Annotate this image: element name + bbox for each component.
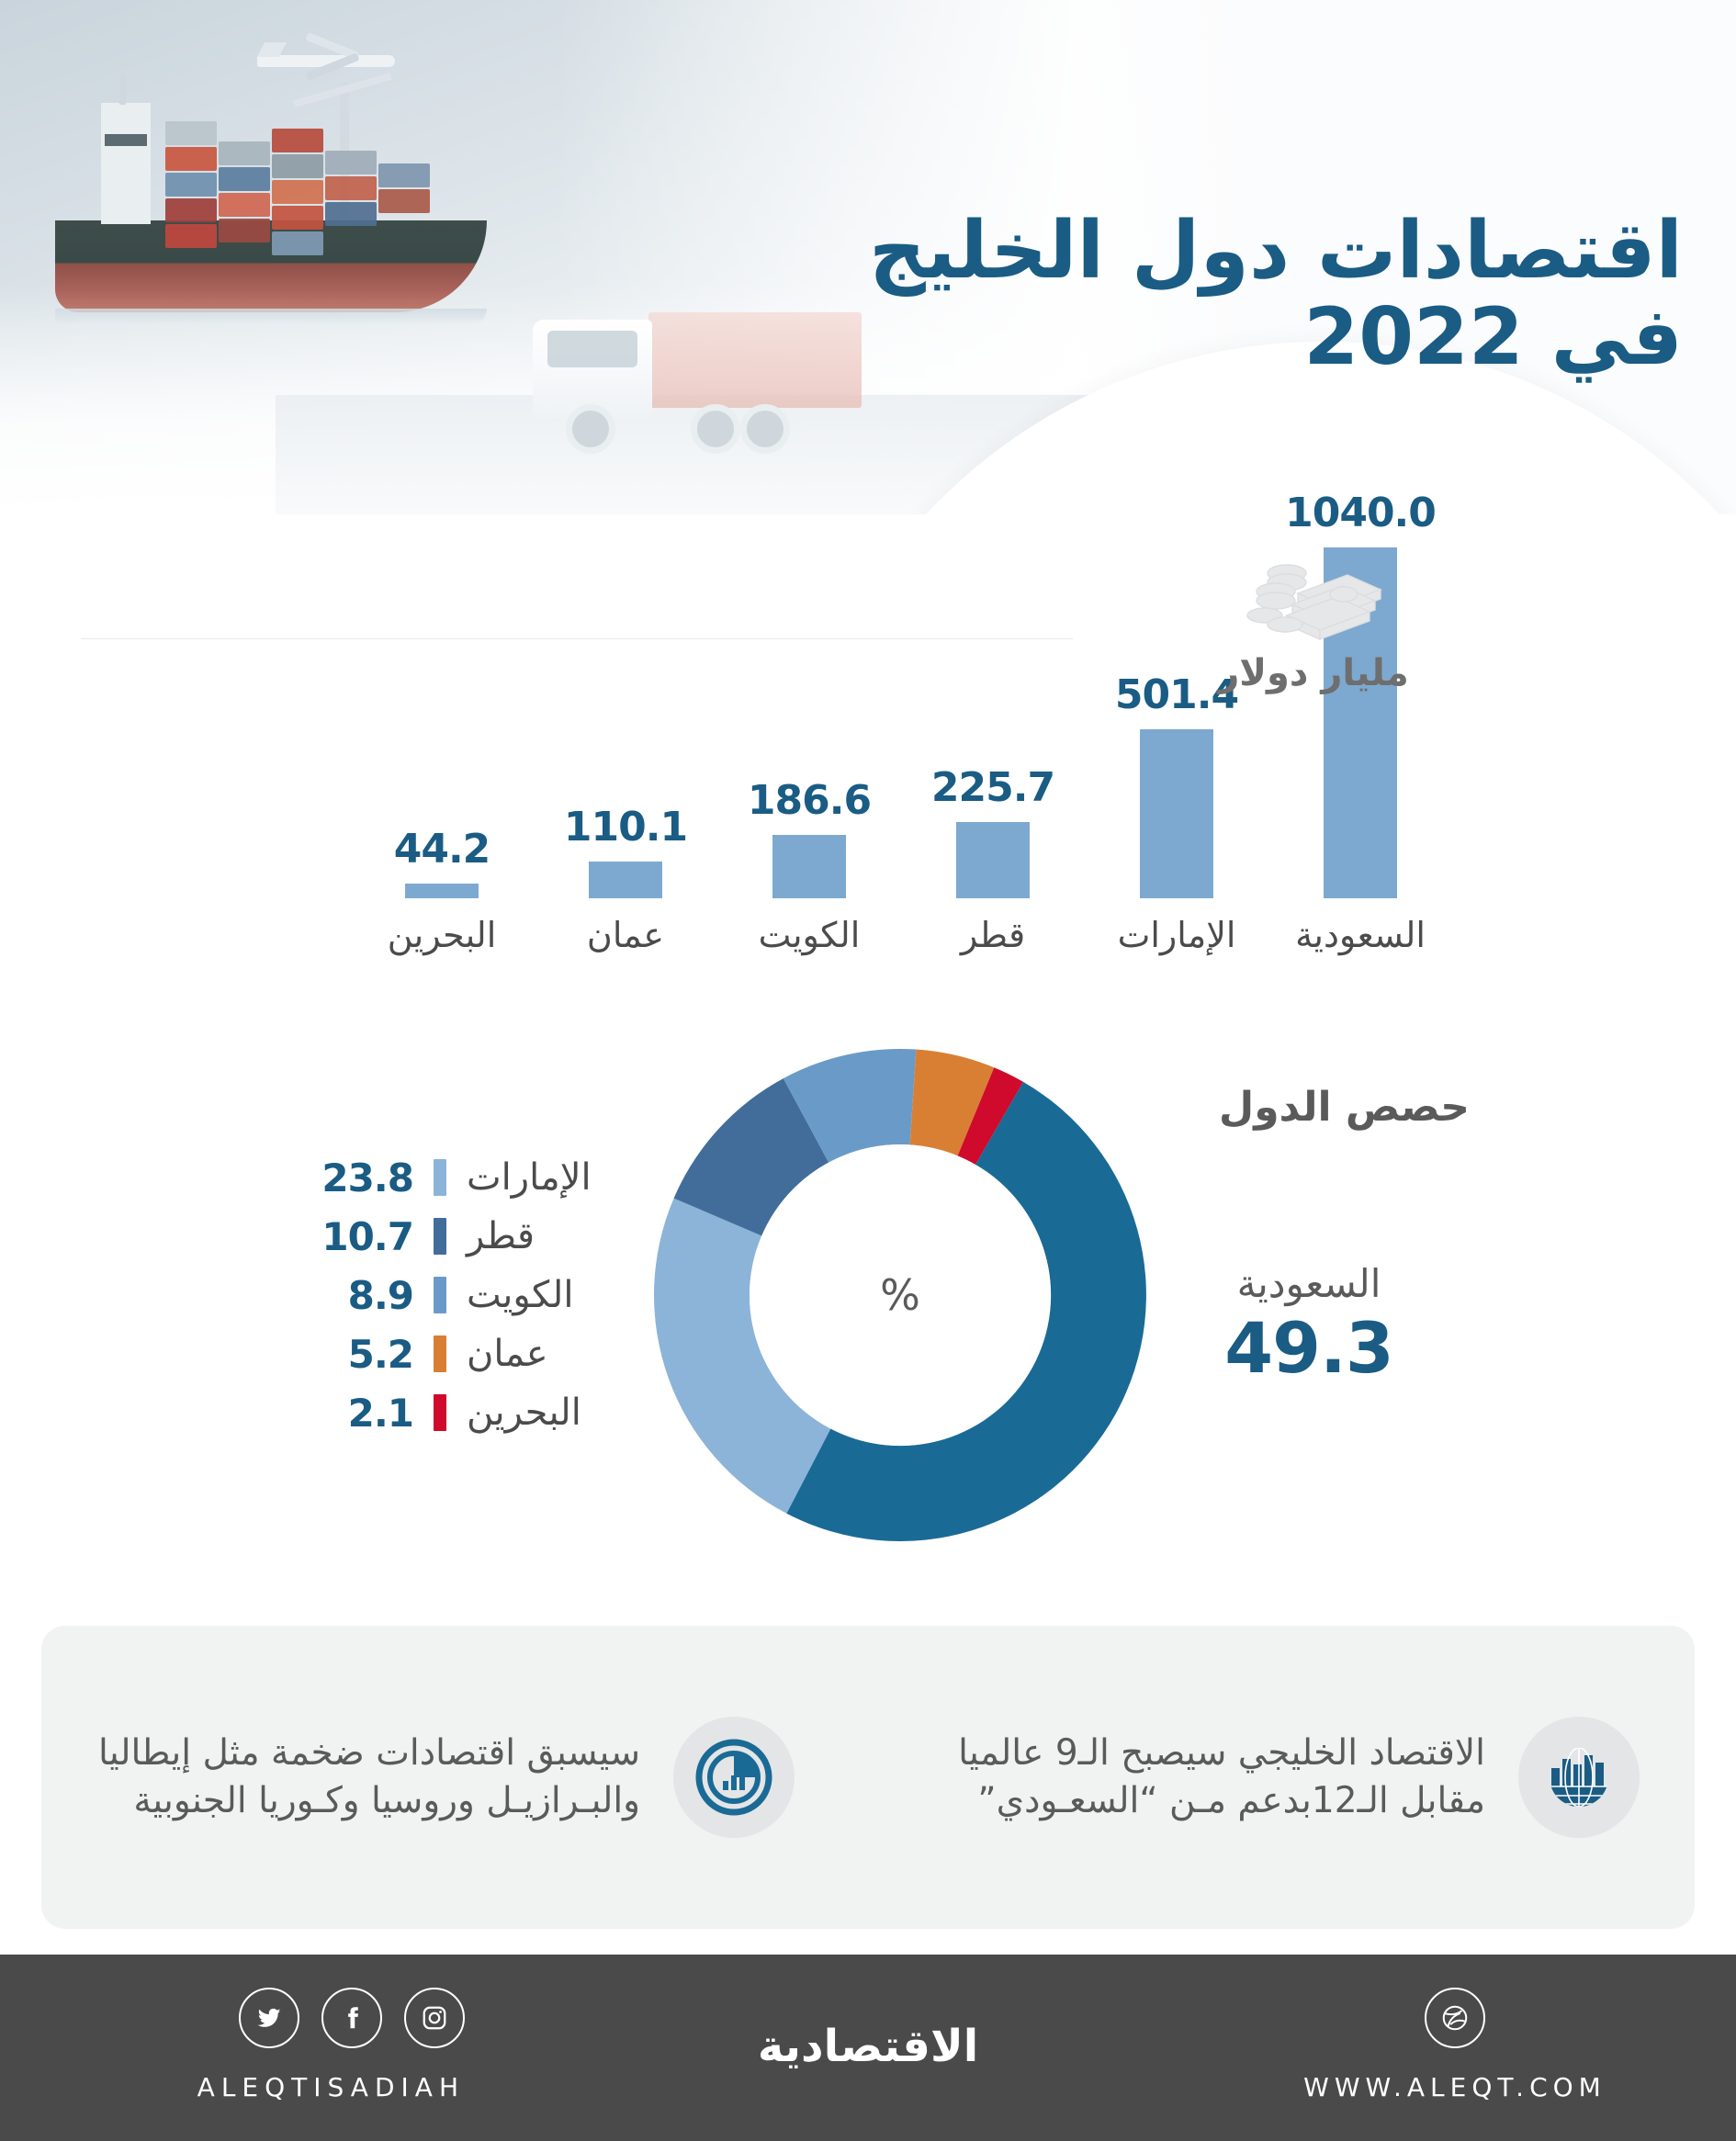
card-overtake-text: سيسبق اقتصادات ضخمة مثل إيطاليا والبـراز… (96, 1730, 640, 1826)
bar-rect (772, 835, 846, 898)
legend-color-swatch (434, 1159, 446, 1196)
bar-item: 186.6 (755, 777, 863, 898)
bar-rect (1140, 729, 1213, 898)
legend-item-label: البحرين (467, 1392, 643, 1434)
analytics-dial-icon (673, 1717, 795, 1838)
bar-rect (956, 822, 1030, 898)
bar-item: 110.1 (571, 804, 680, 898)
legend-item-value: 5.2 (303, 1332, 413, 1377)
bar-rect (589, 862, 662, 898)
page-title-line-2: في 2022 (709, 298, 1683, 378)
bar-category-label: البحرين (364, 915, 520, 955)
bar-category-label: السعودية (1282, 915, 1438, 955)
legend-item: البحرين2.1 (303, 1383, 643, 1442)
bar-item: 225.7 (939, 764, 1047, 898)
airplane-icon (257, 39, 395, 81)
donut-center-label: % (643, 1038, 1157, 1552)
card-global-rank-text: الاقتصاد الخليجي سيصبح الـ9 عالميا مقابل… (941, 1730, 1485, 1826)
legend-color-swatch (434, 1335, 446, 1372)
legend-color-swatch (434, 1218, 446, 1255)
donut-highlight-value: 49.3 (1157, 1307, 1460, 1389)
infographic-page: اقتصادات دول الخليج في 2022 (0, 0, 1736, 2141)
legend-item-label: عمان (467, 1333, 643, 1375)
unit-label: مليار دولار (1157, 652, 1470, 694)
page-title-line-1: اقتصادات دول الخليج (869, 205, 1683, 297)
unit-note: مليار دولار (1157, 551, 1470, 694)
dribbble-globe-icon[interactable] (1425, 1988, 1485, 2048)
bar-category-label: قطر (915, 915, 1071, 955)
globe-bars-icon (1518, 1717, 1640, 1838)
legend-item-label: قطر (467, 1215, 643, 1257)
cargo-ship-icon (37, 83, 514, 321)
legend-item: قطر10.7 (303, 1207, 643, 1266)
share-donut-section: حصص الدول % السعودية 49.3 الإمارات23.8قط… (0, 1029, 1736, 1598)
bar-value-label: 225.7 (931, 764, 1054, 811)
legend-color-swatch (434, 1277, 446, 1313)
legend-item-value: 2.1 (303, 1391, 413, 1436)
card-overtake: سيسبق اقتصادات ضخمة مثل إيطاليا والبـراز… (96, 1659, 795, 1896)
bar-value-label: 44.2 (394, 826, 490, 873)
gdp-bar-chart: مليار دولار 1040.0السعودية501.4الإمارات2… (0, 514, 1736, 1010)
footer-website: WWW.ALEQT.COM (1262, 2072, 1648, 2102)
legend-item-value: 10.7 (303, 1214, 413, 1259)
legend-item: الكويت8.9 (303, 1266, 643, 1324)
insight-cards: الاقتصاد الخليجي سيصبح الـ9 عالميا مقابل… (41, 1626, 1695, 1929)
bar-item: 44.2 (388, 826, 496, 898)
donut-title: حصص الدول (1219, 1084, 1470, 1131)
page-title: اقتصادات دول الخليج في 2022 (709, 211, 1683, 377)
legend-item-label: الكويت (467, 1274, 643, 1316)
hero-banner: اقتصادات دول الخليج في 2022 (0, 0, 1736, 514)
donut-highlight-name: السعودية (1157, 1263, 1460, 1305)
bar-value-label: 110.1 (564, 804, 687, 851)
legend-color-swatch (434, 1394, 446, 1431)
donut-highlight: السعودية 49.3 (1157, 1263, 1460, 1389)
legend-item: عمان5.2 (303, 1324, 643, 1383)
money-stack-icon (1245, 551, 1382, 647)
footer-bar: ALEQTISADIAH الاقتصادية WWW.ALEQT.COM (0, 1955, 1736, 2141)
bar-category-label: الإمارات (1099, 915, 1255, 955)
donut-chart: % (643, 1038, 1157, 1552)
bar-value-label: 186.6 (748, 777, 871, 824)
donut-legend: الإمارات23.8قطر10.7الكويت8.9عمان5.2البحر… (303, 1148, 643, 1442)
footer-social-handle: ALEQTISADIAH (79, 2072, 465, 2102)
bar-category-label: الكويت (731, 915, 887, 955)
bar-value-label: 1040.0 (1285, 490, 1436, 536)
card-global-rank: الاقتصاد الخليجي سيصبح الـ9 عالميا مقابل… (941, 1659, 1640, 1896)
legend-item-value: 8.9 (303, 1273, 413, 1318)
bar-item: 501.4 (1122, 671, 1231, 898)
legend-item-label: الإمارات (467, 1156, 643, 1199)
bar-rect (405, 884, 479, 898)
legend-item: الإمارات23.8 (303, 1148, 643, 1207)
bar-category-label: عمان (547, 915, 704, 955)
legend-item-value: 23.8 (303, 1155, 413, 1200)
footer-website-block: WWW.ALEQT.COM (1262, 1988, 1648, 2102)
